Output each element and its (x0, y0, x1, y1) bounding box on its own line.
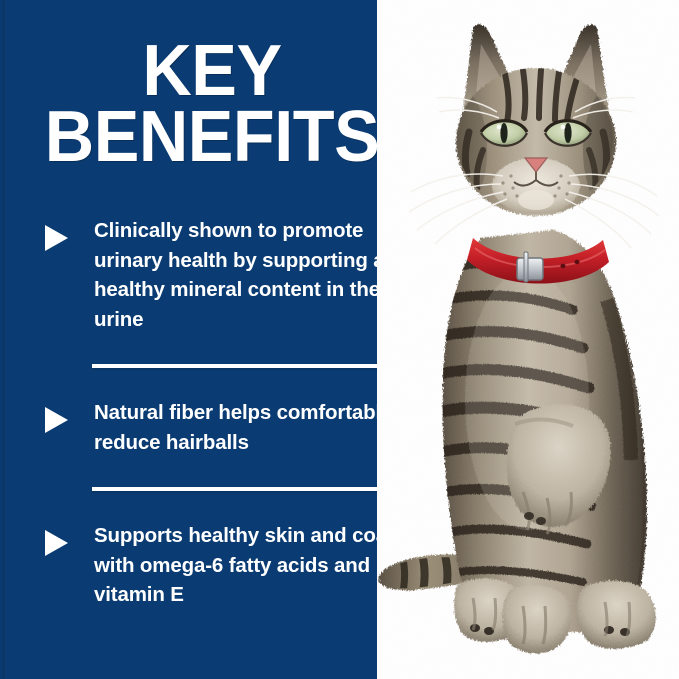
key-benefits-panel: KEY BENEFITS Clinically shown to promote… (0, 0, 679, 679)
benefit-divider-1 (92, 364, 400, 368)
page-title: KEY BENEFITS (0, 38, 424, 170)
benefit-divider-2 (92, 487, 400, 491)
benefit-item-1: Clinically shown to promote urinary heal… (0, 216, 437, 334)
cat-photo-area (437, 0, 679, 679)
page-title-line-1: KEY (11, 38, 414, 104)
benefit-item-2: Natural fiber helps comfortably reduce h… (0, 398, 437, 457)
benefits-list: Clinically shown to promote urinary heal… (0, 216, 437, 610)
page-title-line-2: BENEFITS (11, 104, 414, 170)
benefit-item-3-text: Supports healthy skin and coat with omeg… (94, 521, 411, 610)
benefit-item-2-text: Natural fiber helps comfortably reduce h… (94, 398, 411, 457)
tabby-cat-image (377, 0, 679, 679)
benefit-item-1-text: Clinically shown to promote urinary heal… (94, 216, 411, 334)
triangle-right-icon (45, 530, 68, 556)
triangle-right-icon (45, 407, 68, 433)
benefit-item-3: Supports healthy skin and coat with omeg… (0, 521, 437, 610)
triangle-right-icon (45, 225, 68, 251)
